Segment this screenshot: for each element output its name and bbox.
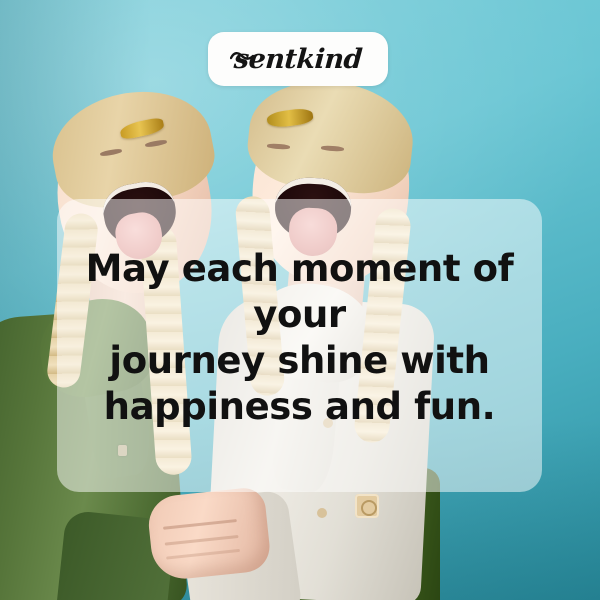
brand-logo-pill[interactable]: sentkind — [208, 32, 388, 86]
quote-text: May each moment of your journey shine wi… — [57, 246, 542, 430]
brand-wordmark: sentkind — [233, 46, 363, 73]
right-girl-jacket-badge — [355, 494, 379, 518]
right-girl-jacket-button-lower — [317, 508, 327, 518]
quote-line-3: happiness and fun. — [57, 384, 542, 430]
social-quote-card: sentkind May each moment of your journey… — [0, 0, 600, 600]
quote-line-1: May each moment of your — [57, 246, 542, 338]
quote-line-2: journey shine with — [57, 338, 542, 384]
joined-hands — [146, 486, 272, 582]
